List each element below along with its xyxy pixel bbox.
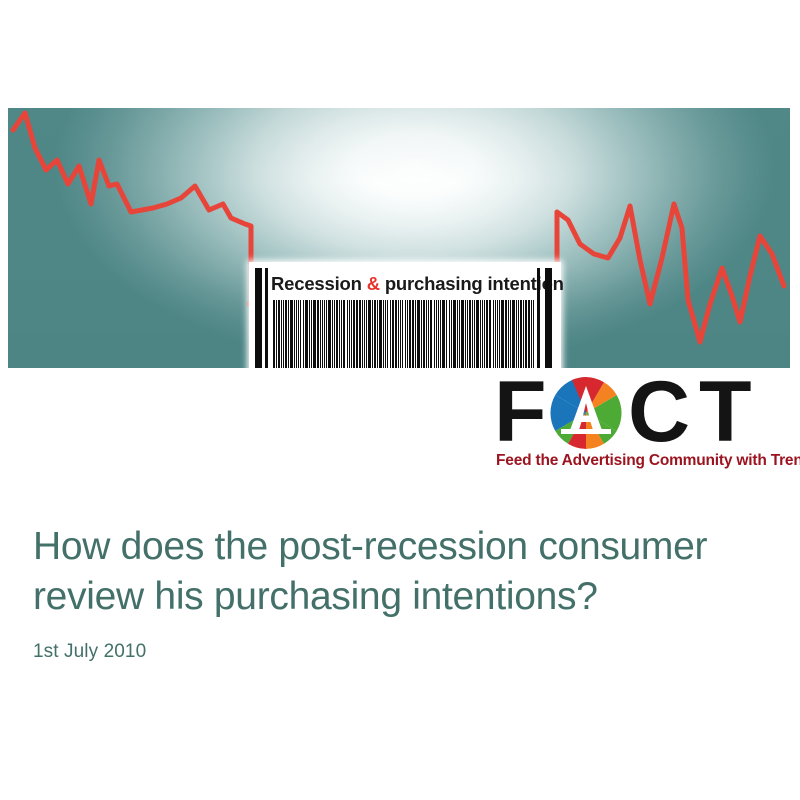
- barcode-bar: [324, 300, 326, 368]
- fact-letter-a-color-wheel-icon: [550, 377, 622, 449]
- barcode-bars: [249, 300, 561, 368]
- barcode-bar: [390, 300, 391, 368]
- barcode-guard-left-thin: [265, 268, 268, 368]
- barcode-bar: [364, 300, 365, 368]
- page-title: How does the post-recession consumer rev…: [33, 522, 763, 622]
- barcode-bar: [339, 300, 340, 368]
- slide-date: 1st July 2010: [33, 640, 763, 664]
- barcode-bar: [482, 300, 483, 368]
- barcode-bar: [407, 300, 408, 368]
- barcode-bar: [428, 300, 429, 368]
- barcode-bar: [362, 300, 364, 368]
- barcode-bar: [409, 300, 412, 368]
- barcode-bar: [379, 300, 382, 368]
- barcode-bar: [446, 300, 448, 368]
- fact-tagline: Feed the Advertising Community with Tren…: [496, 452, 792, 470]
- barcode-bar: [501, 300, 504, 368]
- barcode-bar: [398, 300, 399, 368]
- barcode-bar: [281, 300, 282, 368]
- barcode-bar: [426, 300, 427, 368]
- fact-letter-t: T: [699, 372, 749, 452]
- barcode-bar: [508, 300, 510, 368]
- barcode-bar: [372, 300, 373, 368]
- barcode-bar: [489, 300, 492, 368]
- barcode-bar: [317, 300, 319, 368]
- barcode-bar: [332, 300, 333, 368]
- barcode-bar: [512, 300, 515, 368]
- barcode-guard-left: [255, 268, 262, 368]
- fact-wordmark: F: [492, 372, 792, 452]
- barcode-bar: [353, 300, 355, 368]
- barcode-bar: [484, 300, 485, 368]
- barcode-bar: [374, 300, 376, 368]
- barcode-bar: [320, 300, 321, 368]
- barcode-bar: [461, 300, 464, 368]
- barcode-bar: [520, 300, 522, 368]
- barcode-bar: [469, 300, 471, 368]
- barcode-bar: [474, 300, 475, 368]
- barcode-bar: [423, 300, 425, 368]
- barcode-bar: [495, 300, 496, 368]
- barcode-bar: [309, 300, 310, 368]
- barcode-bar: [499, 300, 500, 368]
- barcode-bar: [449, 300, 450, 368]
- barcode-bar: [412, 300, 414, 368]
- barcode-bar: [368, 300, 371, 368]
- barcode-bar: [442, 300, 445, 368]
- hero-banner: Recession & purchasing intention: [8, 108, 790, 368]
- barcode-bar: [486, 300, 488, 368]
- barcode-bar: [392, 300, 395, 368]
- barcode-bar: [311, 300, 312, 368]
- barcode-bar: [436, 300, 438, 368]
- barcode-bar: [313, 300, 316, 368]
- barcode-guard-right: [545, 268, 552, 368]
- barcode-bar: [415, 300, 416, 368]
- barcode-bar: [400, 300, 401, 368]
- barcode-bar: [341, 300, 342, 368]
- barcode-bar: [472, 300, 473, 368]
- barcode-bar: [395, 300, 397, 368]
- barcode-bar: [523, 300, 524, 368]
- barcode-bar: [273, 300, 275, 368]
- barcode-bar: [459, 300, 461, 368]
- barcode-bar: [518, 300, 519, 368]
- barcode-bar: [434, 300, 435, 368]
- barcode-bar: [294, 300, 295, 368]
- trend-line-right-segment: [557, 204, 784, 342]
- barcode-bar: [305, 300, 308, 368]
- barcode-bar: [290, 300, 293, 368]
- barcode-graphic: Recession & purchasing intention: [249, 262, 561, 368]
- barcode-bar: [296, 300, 298, 368]
- barcode-bar: [278, 300, 281, 368]
- barcode-guard-right-thin: [537, 268, 540, 368]
- barcode-bar: [334, 300, 335, 368]
- barcode-bar: [288, 300, 289, 368]
- presentation-title-slide: Recession & purchasing intention F: [0, 0, 800, 800]
- barcode-bar: [387, 300, 389, 368]
- fact-letter-c: C: [628, 372, 687, 452]
- barcode-bar: [385, 300, 386, 368]
- barcode-bar: [383, 300, 384, 368]
- barcode-bar: [405, 300, 406, 368]
- trend-line-left-segment: [13, 113, 251, 226]
- barcode-bar: [438, 300, 439, 368]
- barcode-bar: [326, 300, 327, 368]
- barcode-label-text: Recession & purchasing intention: [271, 271, 541, 297]
- fact-letter-f: F: [494, 372, 544, 452]
- barcode-bar: [505, 300, 506, 368]
- barcode-bar: [531, 300, 532, 368]
- barcode-bar: [417, 300, 420, 368]
- barcode-bar: [343, 300, 346, 368]
- barcode-bar: [476, 300, 479, 368]
- barcode-bar: [465, 300, 466, 368]
- fact-logo: F: [492, 372, 792, 478]
- barcode-bar: [298, 300, 299, 368]
- barcode-bar: [480, 300, 482, 368]
- barcode-bar: [430, 300, 433, 368]
- barcode-bar: [351, 300, 352, 368]
- barcode-bar: [349, 300, 350, 368]
- barcode-bar: [303, 300, 305, 368]
- barcode-bar: [359, 300, 360, 368]
- barcode-label-ampersand: &: [367, 273, 380, 294]
- barcode-bar: [457, 300, 458, 368]
- barcode-bar: [453, 300, 456, 368]
- barcode-bar: [440, 300, 441, 368]
- barcode-bar: [402, 300, 404, 368]
- barcode-bar: [451, 300, 452, 368]
- barcode-bar: [528, 300, 530, 368]
- barcode-bar: [533, 300, 534, 368]
- barcode-bar: [328, 300, 331, 368]
- barcode-bar: [516, 300, 517, 368]
- barcode-bar: [525, 300, 528, 368]
- barcode-bar: [300, 300, 301, 368]
- barcode-label-part1: Recession: [271, 273, 362, 294]
- barcode-bar: [322, 300, 323, 368]
- barcode-bar: [377, 300, 378, 368]
- barcode-bar: [467, 300, 468, 368]
- barcode-bar: [493, 300, 494, 368]
- barcode-bar: [366, 300, 367, 368]
- barcode-bar: [276, 300, 277, 368]
- barcode-bar: [283, 300, 284, 368]
- barcode-bar: [497, 300, 499, 368]
- barcode-bar: [347, 300, 349, 368]
- barcode-bar: [285, 300, 287, 368]
- barcode-bar: [421, 300, 422, 368]
- title-block: How does the post-recession consumer rev…: [33, 522, 763, 664]
- barcode-bar: [510, 300, 511, 368]
- barcode-bar: [356, 300, 359, 368]
- barcode-bar: [336, 300, 338, 368]
